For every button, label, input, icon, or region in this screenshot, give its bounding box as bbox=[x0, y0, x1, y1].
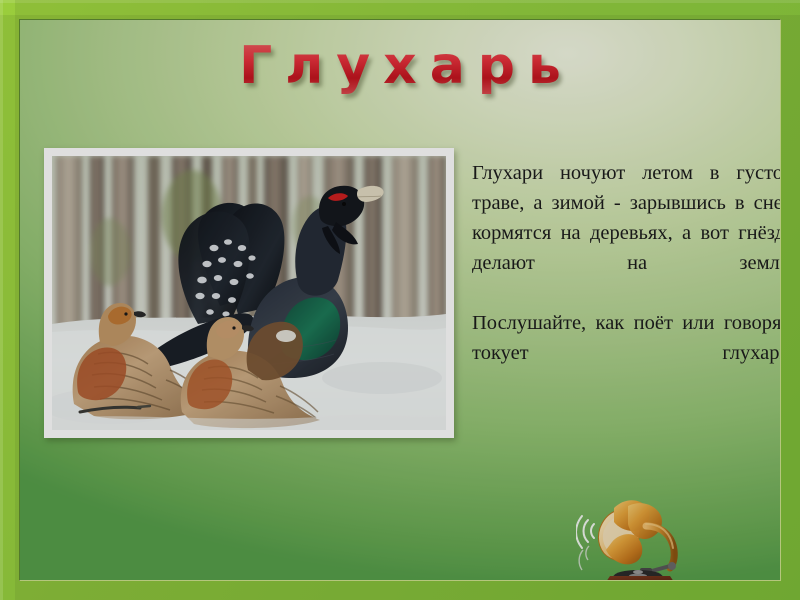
paragraph-2: Послушайте, как поёт или говорят, токует… bbox=[472, 308, 781, 398]
slide: Глухарь bbox=[0, 0, 800, 600]
body-text: Глухари ночуют летом в густой траве, а з… bbox=[472, 158, 781, 398]
paragraph-1: Глухари ночуют летом в густой траве, а з… bbox=[472, 158, 781, 308]
capercaillie-photo bbox=[52, 156, 446, 430]
slide-panel: Глухарь bbox=[19, 19, 781, 581]
page-title: Глухарь bbox=[226, 36, 574, 96]
photo-frame bbox=[44, 148, 454, 438]
page-title-wrap: Глухарь bbox=[20, 36, 780, 96]
gramophone-icon[interactable] bbox=[576, 486, 696, 581]
